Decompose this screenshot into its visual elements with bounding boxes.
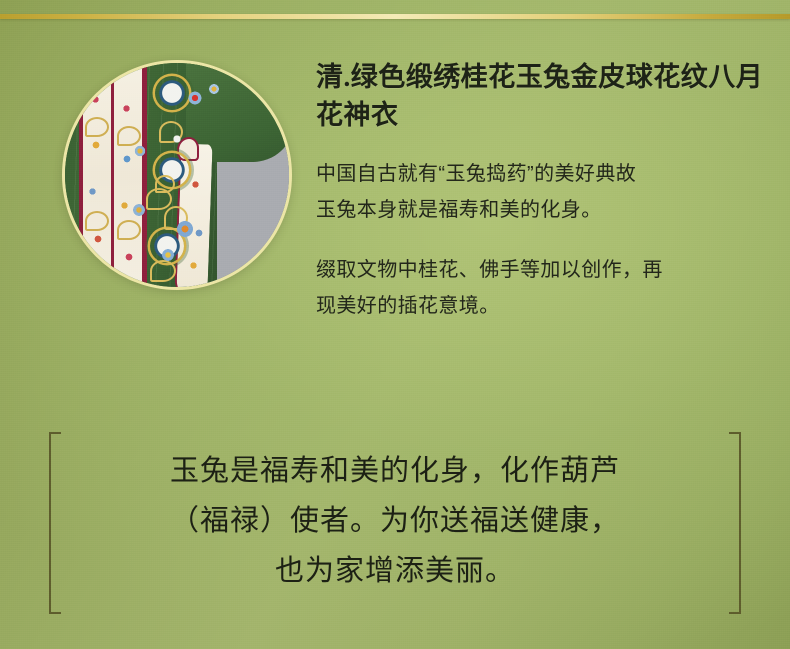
promo-page: 清.绿色缎绣桂花玉兔金皮球花纹八月花神衣 中国自古就有“玉兔捣药”的美好典故 玉… xyxy=(0,0,790,649)
bracket-tick xyxy=(729,612,741,614)
band-gold-scroll xyxy=(117,220,141,240)
quote-block: 玉兔是福寿和美的化身，化作葫芦 （福禄）使者。为你送福送健康， 也为家增添美丽。 xyxy=(47,432,743,614)
rabbit-roundel-motif xyxy=(155,76,189,110)
article-paragraph-2: 缀取文物中桂花、佛手等加以创作，再 现美好的插花意境。 xyxy=(316,252,766,324)
quote-line: 玉兔是福寿和美的化身，化作葫芦 xyxy=(87,446,703,496)
osmanthus-flower-motif xyxy=(130,202,148,218)
gold-divider-rule xyxy=(0,14,790,19)
band-gold-scroll xyxy=(117,126,141,146)
band-floral-sprig xyxy=(193,227,205,239)
band-floral-sprig xyxy=(90,139,102,151)
band-floral-sprig xyxy=(121,153,133,165)
bracket-tick xyxy=(49,612,61,614)
bracket-left-decoration xyxy=(47,432,63,614)
product-photo-circle[interactable] xyxy=(62,60,292,290)
band-gold-scroll xyxy=(85,117,109,137)
gold-ball-flower-motif xyxy=(155,175,175,193)
piping-stripe xyxy=(142,63,147,287)
osmanthus-flower-motif xyxy=(173,218,197,240)
article-text-column: 清.绿色缎绣桂花玉兔金皮球花纹八月花神衣 中国自古就有“玉兔捣药”的美好典故 玉… xyxy=(316,58,766,324)
bracket-line xyxy=(739,432,741,614)
band-floral-sprig xyxy=(119,200,130,211)
bracket-line xyxy=(49,432,51,614)
osmanthus-flower-motif xyxy=(184,90,206,106)
bracket-right-decoration xyxy=(727,432,743,614)
osmanthus-flower-motif xyxy=(159,247,177,263)
paragraph-line: 缀取文物中桂花、佛手等加以创作，再 xyxy=(316,259,663,281)
page-title: 清.绿色缎绣桂花玉兔金皮球花纹八月花神衣 xyxy=(316,58,766,134)
paragraph-line: 现美好的插花意境。 xyxy=(316,295,500,317)
osmanthus-flower-motif xyxy=(132,144,148,158)
band-floral-sprig xyxy=(90,94,101,105)
article-paragraph-1: 中国自古就有“玉兔捣药”的美好典故 玉兔本身就是福寿和美的化身。 xyxy=(316,156,766,228)
product-photo-image xyxy=(65,63,289,287)
paragraph-line: 玉兔本身就是福寿和美的化身。 xyxy=(316,199,602,221)
band-gold-scroll xyxy=(85,211,109,231)
quote-line: 也为家增添美丽。 xyxy=(87,546,703,596)
paragraph-line: 中国自古就有“玉兔捣药”的美好典故 xyxy=(316,163,636,185)
quote-line: （福禄）使者。为你送福送健康， xyxy=(87,496,703,546)
quote-text: 玉兔是福寿和美的化身，化作葫芦 （福禄）使者。为你送福送健康， 也为家增添美丽。 xyxy=(87,446,703,596)
